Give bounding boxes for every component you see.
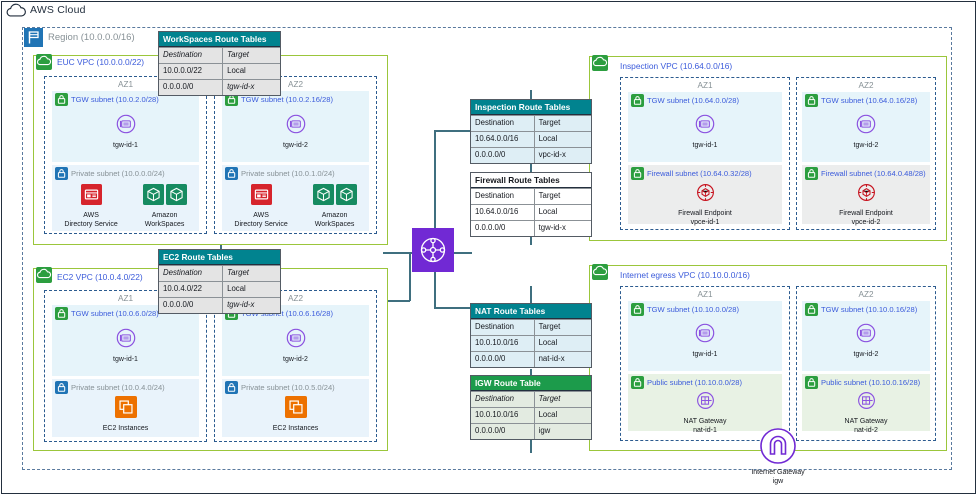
column-header-target: Target [223, 265, 280, 281]
resource-tgw: tgw-id-2 [222, 113, 369, 151]
cell-destination: 0.0.0.0/0 [471, 423, 535, 439]
transit-gateway-icon [285, 327, 307, 349]
subnet-ec2-az2-private: Private subnet (10.0.5.0/24) EC2 Instanc… [222, 379, 369, 437]
subnet-egress-az2-public: Public subnet (10.10.0.16/28) NAT Gatewa… [802, 374, 930, 431]
ec2-instances-icon [285, 396, 307, 418]
column-header-destination: Destination [471, 391, 535, 407]
subnet-name: Public subnet (10.10.0.0/28) [647, 378, 742, 387]
subnet-euc-az1-tgw: TGW subnet (10.0.2.0/28) tgw-id-1 [52, 91, 199, 162]
subnet-name: TGW subnet (10.64.0.0/28) [647, 96, 739, 105]
subnet-lock-green-icon [805, 167, 818, 180]
subnet-egress-az1-tgw: TGW subnet (10.10.0.0/28) tgw-id-1 [628, 301, 782, 371]
resource-tgw: tgw-id-2 [222, 327, 369, 365]
resource-workspaces: Amazon WorkSpaces [313, 184, 357, 229]
resource-ec2: EC2 Instances [52, 396, 199, 434]
route-table-header-row: Destination Target [471, 115, 591, 131]
column-header-target: Target [535, 391, 591, 407]
route-table-row: 10.0.10.0/16 Local [471, 335, 591, 351]
resource-label: Firewall Endpoint vpce-id-1 [628, 210, 782, 227]
resource-tgw: tgw-id-1 [628, 322, 782, 360]
subnet-ec2-az2-tgw: TGW subnet (10.0.6.16/28) tgw-id-2 [222, 305, 369, 376]
route-table-title: NAT Route Tables [471, 304, 591, 319]
cell-target: Local [535, 204, 591, 220]
cell-destination: 10.0.10.0/16 [471, 407, 535, 423]
route-table-firewall: Firewall Route Tables Destination Target… [470, 172, 592, 237]
aws-architecture-diagram: AWS Cloud Region (10.0.0.0/16) EUC VPC (… [0, 0, 977, 495]
route-table-igw: IGW Route Table Destination Target 10.0.… [470, 375, 592, 440]
nat-gateway-icon [695, 390, 716, 411]
vpc-icon-ec2 [36, 267, 52, 283]
subnet-name: Private subnet (10.0.1.0/24) [241, 169, 335, 178]
route-table-row: 0.0.0.0/0 nat-id-x [471, 351, 591, 367]
subnet-inspection-az2-tgw: TGW subnet (10.64.0.16/28) tgw-id-2 [802, 92, 930, 162]
cell-target: tgw-id-x [535, 220, 591, 236]
subnet-name: TGW subnet (10.10.0.16/28) [821, 305, 917, 314]
route-table-ec2: EC2 Route Tables Destination Target 10.0… [158, 249, 281, 314]
nat-gateway-icon [856, 390, 877, 411]
subnet-name: Public subnet (10.10.0.16/28) [821, 378, 920, 387]
subnet-egress-az1-public: Public subnet (10.10.0.0/28) NAT Gateway… [628, 374, 782, 431]
subnet-lock-green-icon [805, 94, 818, 107]
resource-label: tgw-id-2 [222, 356, 369, 365]
subnet-lock-green-icon [55, 307, 68, 320]
network-firewall-endpoint-icon [695, 182, 716, 203]
cell-destination: 10.64.0.0/16 [471, 131, 535, 147]
column-header-target: Target [535, 188, 591, 204]
vpc-title-egress: Internet egress VPC (10.10.0.0/16) [620, 270, 750, 280]
subnet-inspection-az1-tgw: TGW subnet (10.64.0.0/28) tgw-id-1 [628, 92, 782, 162]
subnet-lock-green-icon [631, 94, 644, 107]
route-table-header-row: Destination Target [159, 265, 280, 281]
region-flag-icon [24, 28, 43, 47]
route-table-title: IGW Route Table [471, 376, 591, 391]
transit-gateway-icon [285, 113, 307, 135]
route-table-row: 0.0.0.0/0 tgw-id-x [159, 297, 280, 313]
resource-label: tgw-id-1 [52, 142, 199, 151]
subnet-ec2-az1-private: Private subnet (10.0.4.0/24) EC2 Instanc… [52, 379, 199, 437]
resource-directory-service: AWS Directory Service [64, 184, 117, 229]
subnet-lock-blue-icon [225, 167, 238, 180]
route-table-row: 0.0.0.0/0 vpc-id-x [471, 147, 591, 163]
cell-target: Local [223, 63, 280, 79]
subnet-euc-az1-private: Private subnet (10.0.0.0/24) AWS Directo… [52, 165, 199, 231]
cell-destination: 0.0.0.0/0 [471, 351, 535, 367]
internet-gateway-icon [757, 425, 799, 467]
subnet-name: Firewall subnet (10.64.0.48/28) [821, 169, 926, 178]
resource-tgw: tgw-id-1 [52, 113, 199, 151]
subnet-name: Private subnet (10.0.5.0/24) [241, 383, 335, 392]
cell-destination: 0.0.0.0/0 [471, 147, 535, 163]
transit-gateway-icon [855, 113, 877, 135]
subnet-ec2-az1-tgw: TGW subnet (10.0.6.0/28) tgw-id-1 [52, 305, 199, 376]
aws-cloud-icon [5, 2, 27, 20]
subnet-lock-green-icon [805, 303, 818, 316]
subnet-name: Private subnet (10.0.4.0/24) [71, 383, 165, 392]
route-table-header-row: Destination Target [471, 391, 591, 407]
route-table-nat: NAT Route Tables Destination Target 10.0… [470, 303, 592, 368]
cell-target: tgw-id-x [223, 79, 280, 95]
network-firewall-endpoint-icon [856, 182, 877, 203]
resource-tgw: tgw-id-1 [52, 327, 199, 365]
ec2-instances-icon [115, 396, 137, 418]
column-header-destination: Destination [471, 115, 535, 131]
subnet-lock-green-icon [55, 93, 68, 106]
route-table-row: 0.0.0.0/0 tgw-id-x [159, 79, 280, 95]
amazon-workspaces-icon [313, 184, 334, 205]
subnet-lock-blue-icon [225, 381, 238, 394]
subnet-egress-az2-tgw: TGW subnet (10.10.0.16/28) tgw-id-2 [802, 301, 930, 371]
route-table-row: 10.0.4.0/22 Local [159, 281, 280, 297]
transit-gateway-icon [694, 322, 716, 344]
column-header-destination: Destination [471, 188, 535, 204]
route-table-inspection: Inspection Route Tables Destination Targ… [470, 99, 592, 164]
vpc-icon-egress [592, 264, 608, 280]
subnet-lock-green-icon [631, 167, 644, 180]
cell-target: Local [535, 131, 591, 147]
resource-label: tgw-id-2 [802, 142, 930, 151]
resource-label: tgw-id-1 [52, 356, 199, 365]
region-title: Region (10.0.0.0/16) [48, 32, 135, 43]
subnet-lock-green-icon [631, 376, 644, 389]
resource-tgw: tgw-id-1 [628, 113, 782, 151]
resource-firewall-endpoint: Firewall Endpoint vpce-id-2 [802, 182, 930, 227]
column-header-destination: Destination [159, 265, 223, 281]
column-header-destination: Destination [159, 47, 223, 63]
route-table-header-row: Destination Target [471, 319, 591, 335]
resource-label: tgw-id-1 [628, 351, 782, 360]
subnet-name: TGW subnet (10.64.0.16/28) [821, 96, 917, 105]
route-table-title: EC2 Route Tables [159, 250, 280, 265]
az-label-egress-az1: AZ1 [621, 290, 789, 299]
resource-firewall-endpoint: Firewall Endpoint vpce-id-1 [628, 182, 782, 227]
resource-directory-service: AWS Directory Service [234, 184, 287, 229]
resource-label: tgw-id-2 [802, 351, 930, 360]
resource-label: AWS Directory Service [234, 212, 287, 229]
transit-gateway-icon [694, 113, 716, 135]
aws-cloud-title: AWS Cloud [30, 4, 86, 16]
resource-workspaces: Amazon WorkSpaces [143, 184, 187, 229]
amazon-workspaces-icon [166, 184, 187, 205]
cell-destination: 10.64.0.0/16 [471, 204, 535, 220]
cell-target: tgw-id-x [223, 297, 280, 313]
amazon-workspaces-icon [336, 184, 357, 205]
transit-gateway-hub[interactable] [412, 228, 454, 272]
igw-name: Internet Gateway [751, 469, 804, 476]
resource-label: NAT Gateway nat-id-2 [802, 418, 930, 435]
az-label-inspection-az2: AZ2 [797, 81, 935, 90]
amazon-workspaces-icon [143, 184, 164, 205]
route-table-row: 10.0.10.0/16 Local [471, 407, 591, 423]
route-table-row: 10.64.0.0/16 Local [471, 204, 591, 220]
cell-target: Local [535, 407, 591, 423]
transit-gateway-hub-icon [418, 235, 448, 265]
cell-destination: 0.0.0.0/0 [159, 79, 223, 95]
subnet-lock-blue-icon [55, 381, 68, 394]
aws-directory-service-icon [81, 184, 102, 205]
subnet-name: TGW subnet (10.0.6.0/28) [71, 309, 159, 318]
route-table-row: 0.0.0.0/0 tgw-id-x [471, 220, 591, 236]
cell-target: nat-id-x [535, 351, 591, 367]
subnet-inspection-az1-firewall: Firewall subnet (10.64.0.32/28) Firewall… [628, 165, 782, 224]
route-table-title: Firewall Route Tables [471, 173, 591, 188]
route-table-title: Inspection Route Tables [471, 100, 591, 115]
subnet-lock-green-icon [631, 303, 644, 316]
subnet-euc-az2-tgw: TGW subnet (10.0.2.16/28) tgw-id-2 [222, 91, 369, 162]
connector-nat-stub [530, 286, 532, 304]
route-table-header-row: Destination Target [159, 47, 280, 63]
cell-destination: 10.0.4.0/22 [159, 281, 223, 297]
column-header-target: Target [535, 115, 591, 131]
vpc-icon-euc [36, 54, 52, 70]
subnet-euc-az2-private: Private subnet (10.0.1.0/24) AWS Directo… [222, 165, 369, 231]
internet-gateway-label: Internet Gateway igw [708, 469, 848, 487]
resource-label: EC2 Instances [222, 425, 369, 434]
cell-destination: 10.0.10.0/16 [471, 335, 535, 351]
resource-nat-gateway: NAT Gateway nat-id-2 [802, 390, 930, 435]
resource-label: Amazon WorkSpaces [313, 212, 357, 229]
route-table-row: 10.64.0.0/16 Local [471, 131, 591, 147]
transit-gateway-icon [115, 113, 137, 135]
column-header-destination: Destination [471, 319, 535, 335]
transit-gateway-icon [115, 327, 137, 349]
subnet-lock-green-icon [805, 376, 818, 389]
resource-label: tgw-id-2 [222, 142, 369, 151]
subnet-name: TGW subnet (10.0.2.16/28) [241, 95, 333, 104]
vpc-title-inspection: Inspection VPC (10.64.0.0/16) [620, 61, 732, 71]
vpc-icon-inspection [592, 55, 608, 71]
subnet-name: Firewall subnet (10.64.0.32/28) [647, 169, 752, 178]
route-table-row: 0.0.0.0/0 igw [471, 423, 591, 439]
column-header-target: Target [223, 47, 280, 63]
igw-id: igw [773, 478, 784, 485]
cell-destination: 0.0.0.0/0 [471, 220, 535, 236]
resource-tgw: tgw-id-2 [802, 113, 930, 151]
route-table-title: WorkSpaces Route Tables [159, 32, 280, 47]
vpc-title-euc: EUC VPC (10.0.0.0/22) [57, 57, 144, 67]
subnet-name: Private subnet (10.0.0.0/24) [71, 169, 165, 178]
resource-label: EC2 Instances [52, 425, 199, 434]
cell-target: Local [223, 281, 280, 297]
resource-label: Firewall Endpoint vpce-id-2 [802, 210, 930, 227]
cell-target: Local [535, 335, 591, 351]
aws-directory-service-icon [251, 184, 272, 205]
resource-tgw: tgw-id-2 [802, 322, 930, 360]
cell-destination: 0.0.0.0/0 [159, 297, 223, 313]
subnet-name: TGW subnet (10.10.0.0/28) [647, 305, 739, 314]
az-label-egress-az2: AZ2 [797, 290, 935, 299]
cell-destination: 10.0.0.0/22 [159, 63, 223, 79]
column-header-target: Target [535, 319, 591, 335]
subnet-name: TGW subnet (10.0.2.0/28) [71, 95, 159, 104]
connector-euc-right [383, 252, 413, 254]
subnet-lock-blue-icon [55, 167, 68, 180]
connector-tgw-left-riser [409, 253, 411, 301]
vpc-title-ec2: EC2 VPC (10.0.4.0/22) [57, 272, 143, 282]
route-table-workspaces: WorkSpaces Route Tables Destination Targ… [158, 31, 281, 96]
resource-label: tgw-id-1 [628, 142, 782, 151]
transit-gateway-icon [855, 322, 877, 344]
resource-label: AWS Directory Service [64, 212, 117, 229]
connector-to-nat-rt [434, 307, 472, 309]
cell-target: igw [535, 423, 591, 439]
subnet-inspection-az2-firewall: Firewall subnet (10.64.0.48/28) Firewall… [802, 165, 930, 224]
az-label-inspection-az1: AZ1 [621, 81, 789, 90]
route-table-header-row: Destination Target [471, 188, 591, 204]
cell-target: vpc-id-x [535, 147, 591, 163]
route-table-row: 10.0.0.0/22 Local [159, 63, 280, 79]
connector-to-inspection-rt [434, 130, 472, 132]
resource-label: Amazon WorkSpaces [143, 212, 187, 229]
resource-ec2: EC2 Instances [222, 396, 369, 434]
